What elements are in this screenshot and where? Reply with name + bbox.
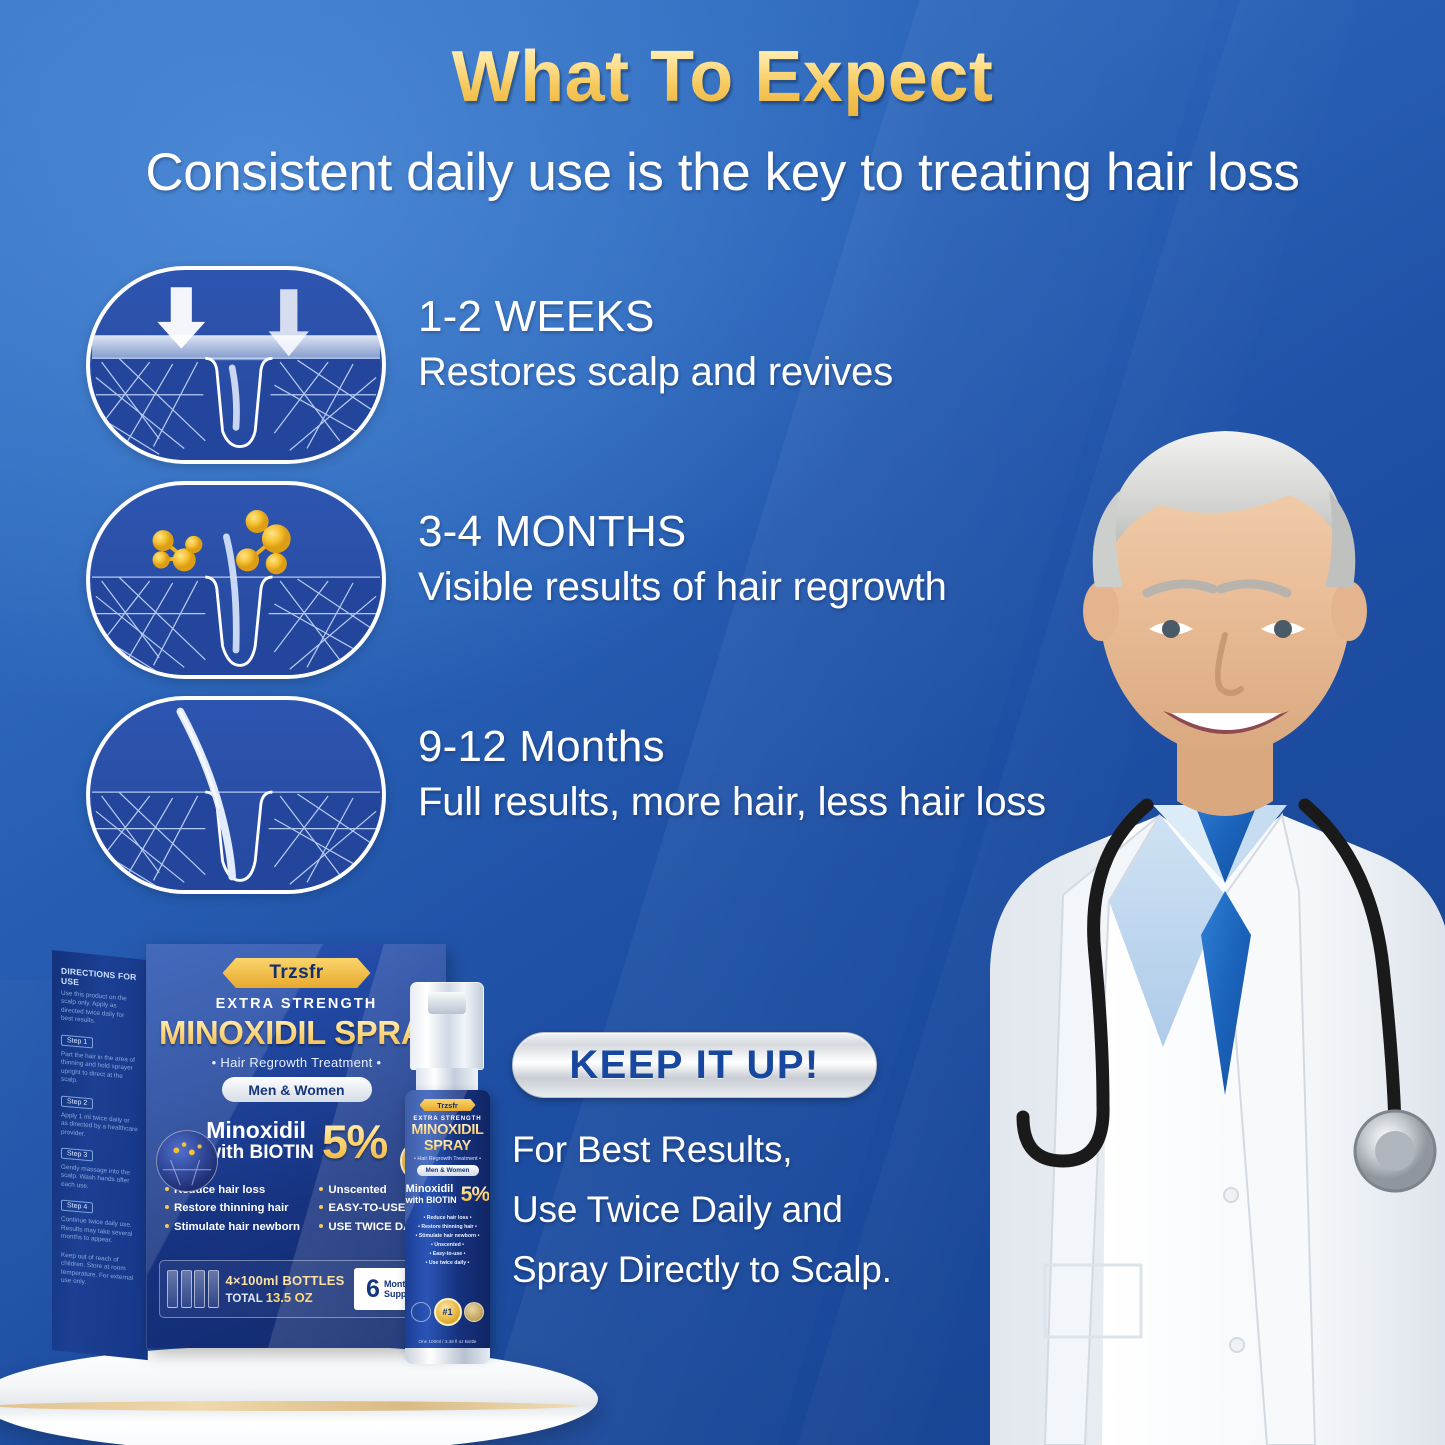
- bottle-product-name-1: MINOXIDIL: [405, 1123, 490, 1138]
- audience-label: Men & Women: [248, 1082, 344, 1098]
- step-heading: 1-2 WEEKS: [418, 292, 1068, 342]
- usage-line: Use Twice Daily and: [512, 1180, 932, 1240]
- scalp-absorption-icon: [86, 266, 386, 464]
- promo-canvas: What To Expect Consistent daily use is t…: [0, 0, 1445, 1445]
- list-item: 9-12 Months Full results, more hair, les…: [78, 688, 1078, 903]
- direction-step-text: Continue twice daily use. Results may ta…: [61, 1216, 138, 1248]
- keep-it-up-panel: KEEP IT UP! For Best Results, Use Twice …: [512, 1032, 932, 1300]
- step-heading: 3-4 MONTHS: [418, 507, 1068, 557]
- audience-pill: Men & Women: [222, 1077, 372, 1102]
- quantity-bar: 4×100ml BOTTLES TOTAL 13.5 OZ 6 Month Su…: [159, 1260, 434, 1318]
- bottle-benefits: • Reduce hair loss • • Restore thinning …: [405, 1214, 490, 1269]
- bottle-concentration-percent: 5%: [461, 1183, 490, 1207]
- page-subtitle: Consistent daily use is the key to treat…: [0, 142, 1445, 203]
- bottle-seal-right-icon: [464, 1302, 484, 1322]
- scalp-full-hair-icon: [86, 696, 386, 894]
- rank-badge-label: #1: [442, 1307, 452, 1317]
- supply-number: 6: [366, 1277, 380, 1302]
- bottle-audience-pill: Men & Women: [417, 1165, 479, 1176]
- total-label: TOTAL: [226, 1293, 263, 1305]
- bottle-biotin-label: with BIOTIN: [406, 1195, 457, 1206]
- benefits-lists: Reduce hair loss Restore thinning hair S…: [159, 1181, 434, 1236]
- bottle-benefit-item: • Restore thinning hair •: [405, 1223, 490, 1232]
- bottle-active-row: Minoxidil with BIOTIN 5%: [405, 1183, 490, 1207]
- page-title: What To Expect: [0, 36, 1445, 118]
- bottle-benefit-item: • Stimulate hair newborn •: [405, 1232, 490, 1241]
- benefit-item: Stimulate hair newborn: [165, 1218, 300, 1236]
- bottle-benefit-item: • Unscented •: [405, 1241, 490, 1250]
- usage-line: Spray Directly to Scalp.: [512, 1240, 932, 1300]
- active-ingredient: Minoxidil: [206, 1119, 314, 1142]
- keep-it-up-label: KEEP IT UP!: [569, 1043, 819, 1088]
- direction-step-tag: Step 4: [61, 1200, 93, 1214]
- spray-nozzle-icon: [428, 992, 466, 1014]
- directions-heading: DIRECTIONS FOR USE: [61, 966, 138, 993]
- concentration-percent: 5%: [322, 1114, 387, 1169]
- directions-intro: Use this product on the scalp only. Appl…: [61, 990, 138, 1031]
- directions-footnote: Keep out of reach of children. Store at …: [61, 1251, 138, 1292]
- brand-banner: Trzsfr: [223, 958, 371, 988]
- bottle-footer-text: One 100ml / 3.38 fl oz Bottle: [405, 1339, 490, 1344]
- direction-step-tag: Step 2: [61, 1095, 93, 1109]
- step-description: Full results, more hair, less hair loss: [418, 780, 1068, 825]
- expectations-list: 1-2 WEEKS Restores scalp and revives: [78, 258, 1078, 903]
- product-name: MINOXIDIL SPRAY: [159, 1014, 434, 1052]
- total-value: 13.5 OZ: [266, 1290, 313, 1305]
- bottle-product-name-2: SPRAY: [405, 1139, 490, 1154]
- bottle-brand-name: Trzsfr: [437, 1101, 458, 1110]
- keep-it-up-badge: KEEP IT UP!: [512, 1032, 877, 1098]
- bottle-active-ingredient: Minoxidil: [406, 1184, 457, 1195]
- direction-step-text: Part the hair in the area of thinning an…: [61, 1050, 138, 1091]
- bottle-label: Trzsfr EXTRA STRENGTH MINOXIDIL SPRAY • …: [405, 1090, 490, 1352]
- spray-bottle: Trzsfr EXTRA STRENGTH MINOXIDIL SPRAY • …: [398, 982, 498, 1364]
- biotin-label: with BIOTIN: [206, 1142, 314, 1164]
- bottle-base: [405, 1348, 490, 1364]
- extra-strength-label: EXTRA STRENGTH: [159, 996, 434, 1012]
- mini-bottles-icon: [167, 1270, 219, 1308]
- rank-badge: #1: [434, 1298, 462, 1326]
- treatment-label: • Hair Regrowth Treatment •: [159, 1055, 434, 1070]
- step-description: Visible results of hair regrowth: [418, 565, 1068, 610]
- usage-line: For Best Results,: [512, 1120, 932, 1180]
- direction-step-text: Apply 1 ml twice daily or as directed by…: [61, 1111, 138, 1143]
- bottle-benefit-item: • Reduce hair loss •: [405, 1214, 490, 1223]
- list-item: 3-4 MONTHS Visible results of hair regro…: [78, 473, 1078, 688]
- bottle-extra-strength: EXTRA STRENGTH: [405, 1115, 490, 1122]
- direction-step-text: Gently massage into the scalp. Wash hand…: [61, 1164, 138, 1196]
- scalp-molecules-icon: [86, 481, 386, 679]
- quantity-label: 4×100ml BOTTLES: [226, 1273, 348, 1288]
- brand-name: Trzsfr: [269, 962, 323, 984]
- box-side-panel: DIRECTIONS FOR USE Use this product on t…: [52, 950, 148, 1360]
- usage-instructions: For Best Results, Use Twice Daily and Sp…: [512, 1120, 932, 1300]
- direction-step-tag: Step 3: [61, 1148, 93, 1162]
- direction-step-tag: Step 1: [61, 1034, 93, 1048]
- step-heading: 9-12 Months: [418, 722, 1068, 772]
- bottle-audience-label: Men & Women: [426, 1167, 470, 1174]
- list-item: 1-2 WEEKS Restores scalp and revives: [78, 258, 1078, 473]
- benefit-item: Restore thinning hair: [165, 1199, 300, 1217]
- bottle-treatment-label: • Hair Regrowth Treatment •: [405, 1156, 490, 1162]
- bottle-seal-left-icon: [411, 1302, 431, 1322]
- bottle-benefit-item: • Use twice daily •: [405, 1259, 490, 1268]
- scalp-closeup-icon: [156, 1130, 218, 1192]
- step-description: Restores scalp and revives: [418, 350, 1068, 395]
- bottle-benefit-item: • Easy-to-use •: [405, 1250, 490, 1259]
- bottle-brand-banner: Trzsfr: [420, 1099, 476, 1111]
